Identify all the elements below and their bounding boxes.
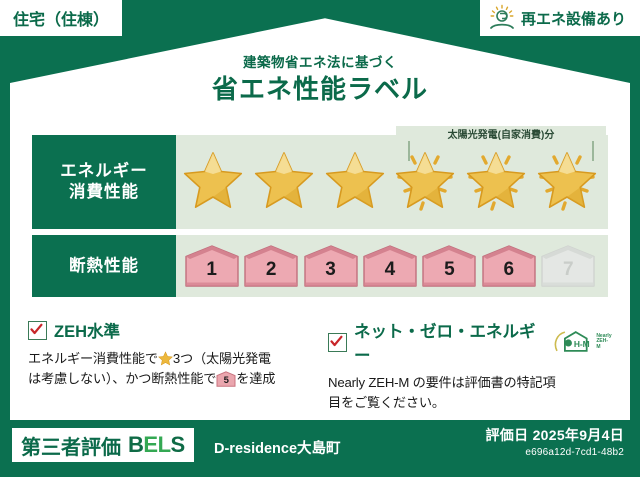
insulation-level-number: 2: [243, 244, 299, 288]
energy-performance-label-cell: エネルギー 消費性能: [32, 135, 176, 229]
bels-wordmark: BELS: [128, 432, 185, 458]
inline-house-level-num: 5: [216, 371, 236, 387]
dwelling-type-label: 住宅（住棟）: [13, 6, 109, 30]
insulation-label-cell: 断熱性能: [32, 235, 176, 297]
renewable-energy-label: 再エネ設備あり: [521, 8, 626, 29]
bels-jp-label: 第三者評価: [21, 431, 121, 460]
svg-text:H-M: H-M: [574, 339, 590, 349]
star-base: [323, 150, 387, 214]
bels-letter-e: E: [143, 432, 157, 457]
bels-chip: 第三者評価 BELS: [12, 428, 194, 462]
criterion-zeh-text-3: は考慮しない）、かつ断熱性能で: [28, 371, 216, 386]
star-base: [181, 150, 245, 214]
criterion-zeh-title: ZEH水準: [54, 318, 120, 342]
star-solar: [535, 150, 599, 214]
criterion-zeh-text-1: エネルギー消費性能で: [28, 351, 158, 366]
criterion-net-zero-body: Nearly ZEH-M の要件は評価書の特記項目をご覧ください。: [328, 373, 612, 414]
bels-letter-s: S: [171, 432, 185, 457]
criterion-net-zero: ネット・ゼロ・エネルギー H-M Nearly ZEH-M Nearly ZEH…: [328, 318, 612, 414]
insulation-level-4: 4: [362, 244, 418, 288]
nearly-zeh-m-sublabel: Nearly ZEH-M: [596, 334, 612, 350]
inline-star-icon: [158, 351, 173, 366]
insulation-level-2: 2: [243, 244, 299, 288]
solar-sun-icon: [488, 4, 516, 32]
insulation-level-number: 1: [184, 244, 240, 288]
energy-performance-row: エネルギー 消費性能 太陽光発電(自家消費)分: [32, 135, 608, 229]
renewable-energy-chip: 再エネ設備あり: [480, 0, 640, 36]
criterion-zeh-body: エネルギー消費性能で3つ（太陽光発電は考慮しない）、かつ断熱性能で5を達成: [28, 349, 312, 390]
page-title: 省エネ性能ラベル: [0, 75, 640, 104]
criteria-section: ZEH水準 エネルギー消費性能で3つ（太陽光発電は考慮しない）、かつ断熱性能で5…: [28, 318, 612, 414]
nearly-zeh-m-logo-icon: H-M Nearly ZEH-M: [554, 329, 612, 355]
evaluation-id: e696a12d-7cd1-48b2: [485, 447, 624, 458]
criterion-net-zero-header: ネット・ゼロ・エネルギー H-M Nearly ZEH-M: [328, 318, 612, 366]
title-subtitle: 建築物省エネ法に基づく: [0, 56, 640, 71]
evaluation-date: 評価日 2025年9月4日: [485, 425, 624, 445]
insulation-level-scale: 1234567: [176, 235, 608, 297]
insulation-level-number: 6: [481, 244, 537, 288]
metric-rows: エネルギー 消費性能 太陽光発電(自家消費)分 断熱性能 1234567: [32, 135, 608, 303]
insulation-level-number: 7: [540, 244, 596, 288]
criterion-net-zero-title: ネット・ゼロ・エネルギー: [354, 318, 543, 366]
criterion-zeh-text-2: 3つ（太陽光発電: [173, 351, 271, 366]
bels-letter-b: B: [128, 432, 143, 457]
insulation-level-6: 6: [481, 244, 537, 288]
criterion-zeh: ZEH水準 エネルギー消費性能で3つ（太陽光発電は考慮しない）、かつ断熱性能で5…: [28, 318, 312, 414]
star-solar: [393, 150, 457, 214]
star-base: [252, 150, 316, 214]
insulation-performance-row: 断熱性能 1234567: [32, 235, 608, 297]
energy-label-line1: エネルギー: [60, 161, 148, 182]
bels-letter-l: L: [158, 432, 171, 457]
dwelling-type-chip: 住宅（住棟）: [0, 0, 122, 36]
insulation-label: 断熱性能: [69, 256, 139, 277]
checkbox-checked-icon: [28, 321, 47, 340]
insulation-level-number: 3: [303, 244, 359, 288]
evaluation-info: 評価日 2025年9月4日 e696a12d-7cd1-48b2: [485, 425, 624, 458]
criterion-net-zero-text-2: 目をご覧ください。: [328, 395, 445, 410]
energy-performance-body: 太陽光発電(自家消費)分: [176, 135, 608, 229]
insulation-level-7: 7: [540, 244, 596, 288]
criterion-zeh-header: ZEH水準: [28, 318, 312, 342]
insulation-level-number: 5: [421, 244, 477, 288]
insulation-level-5: 5: [421, 244, 477, 288]
insulation-performance-body: 1234567: [176, 235, 608, 297]
insulation-level-3: 3: [303, 244, 359, 288]
zehm-text: ZEH-M: [596, 338, 608, 349]
insulation-level-1: 1: [184, 244, 240, 288]
star-rating: [176, 135, 608, 229]
footer: 第三者評価 BELS D-residence大島町 評価日 2025年9月4日 …: [0, 420, 640, 477]
insulation-level-number: 4: [362, 244, 418, 288]
building-name: D-residence大島町: [214, 437, 341, 458]
energy-label-line2: 消費性能: [69, 182, 139, 203]
inline-house-level-icon: 5: [216, 371, 236, 387]
title-block: 建築物省エネ法に基づく 省エネ性能ラベル: [0, 56, 640, 103]
star-solar: [464, 150, 528, 214]
checkbox-checked-icon: [328, 333, 347, 352]
criterion-net-zero-text-1: Nearly ZEH-M の要件は評価書の特記項: [328, 375, 555, 390]
criterion-zeh-text-4: を達成: [236, 371, 275, 386]
energy-performance-label: 住宅（住棟） 再エネ設備あり 建築物省エネ法に基づく: [0, 0, 640, 477]
